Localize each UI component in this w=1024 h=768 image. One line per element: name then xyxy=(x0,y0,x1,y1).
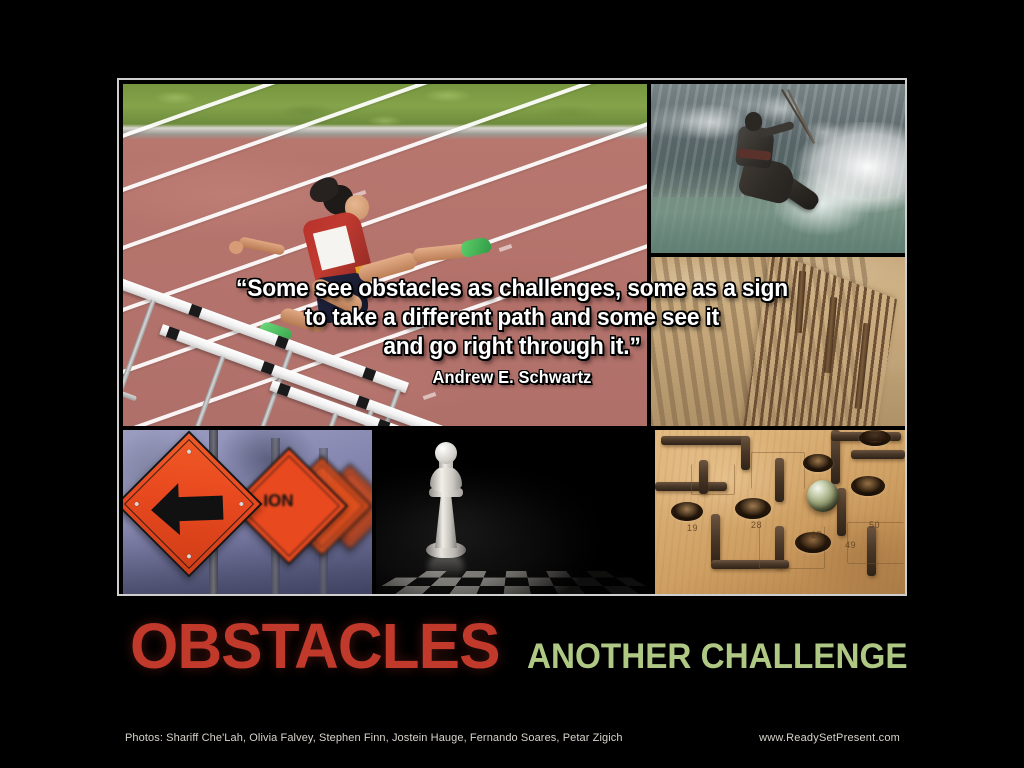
hurdler-athlete xyxy=(273,179,488,389)
maze-number-49: 49 xyxy=(845,540,856,550)
photo-beach-fence xyxy=(651,257,905,426)
photo-track-hurdler xyxy=(123,84,647,426)
construction-sign-text: ION xyxy=(263,491,293,511)
sign-bolt-br xyxy=(186,553,192,559)
white-pawn-piece xyxy=(421,442,471,564)
poster-subtitle: ANOTHER CHALLENGE xyxy=(527,639,908,674)
photo-collage-frame: ION xyxy=(117,78,907,596)
maze-hole-19 xyxy=(671,502,703,521)
poster-canvas: ION xyxy=(0,0,1024,768)
maze-wall-1 xyxy=(661,436,747,445)
website-url[interactable]: www.ReadySetPresent.com xyxy=(759,732,900,744)
sign-bolt-tr xyxy=(238,501,244,507)
maze-number-27: 27 xyxy=(811,530,822,540)
pawn-collar xyxy=(430,466,462,492)
maze-wall-9 xyxy=(711,514,720,566)
photo-credits: Photos: Shariff Che'Lah, Olivia Falvey, … xyxy=(125,732,623,744)
sign-bolt-tl xyxy=(186,449,192,455)
maze-groove-1 xyxy=(691,464,735,495)
maze-number-50: 50 xyxy=(869,520,880,530)
kitesurfer-figure xyxy=(729,106,821,224)
poster-footer: Photos: Shariff Che'Lah, Olivia Falvey, … xyxy=(125,732,900,744)
maze-hole-extra xyxy=(803,454,833,472)
pawn-head xyxy=(435,442,457,464)
kitesurfer-head xyxy=(745,112,762,131)
chessboard-vignette xyxy=(376,430,651,594)
photo-road-signs: ION xyxy=(123,430,372,594)
maze-hole-top xyxy=(859,430,891,446)
photo-collage-grid: ION xyxy=(123,84,901,590)
kitesurfer-arms xyxy=(760,121,795,138)
steel-ball-bearing xyxy=(807,480,839,512)
maze-wall-2 xyxy=(741,436,750,470)
photo-kitesurfer xyxy=(651,84,905,253)
poster-title: OBSTACLES xyxy=(130,614,500,678)
maze-number-28: 28 xyxy=(751,520,762,530)
maze-hole-28 xyxy=(735,498,771,519)
photo-chess-pawn xyxy=(376,430,651,594)
maze-groove-2 xyxy=(751,452,805,489)
left-turn-arrow-icon xyxy=(139,457,239,557)
pawn-body xyxy=(435,496,457,548)
athlete-lead-shoe xyxy=(460,236,493,259)
maze-number-19: 19 xyxy=(687,523,698,533)
photo-wooden-labyrinth: 19 28 27 50 49 xyxy=(655,430,905,594)
maze-wall-12 xyxy=(851,450,905,459)
maze-hole-50 xyxy=(851,476,885,496)
poster-title-band: OBSTACLES ANOTHER CHALLENGE xyxy=(130,614,930,688)
sign-bolt-bl xyxy=(134,501,140,507)
